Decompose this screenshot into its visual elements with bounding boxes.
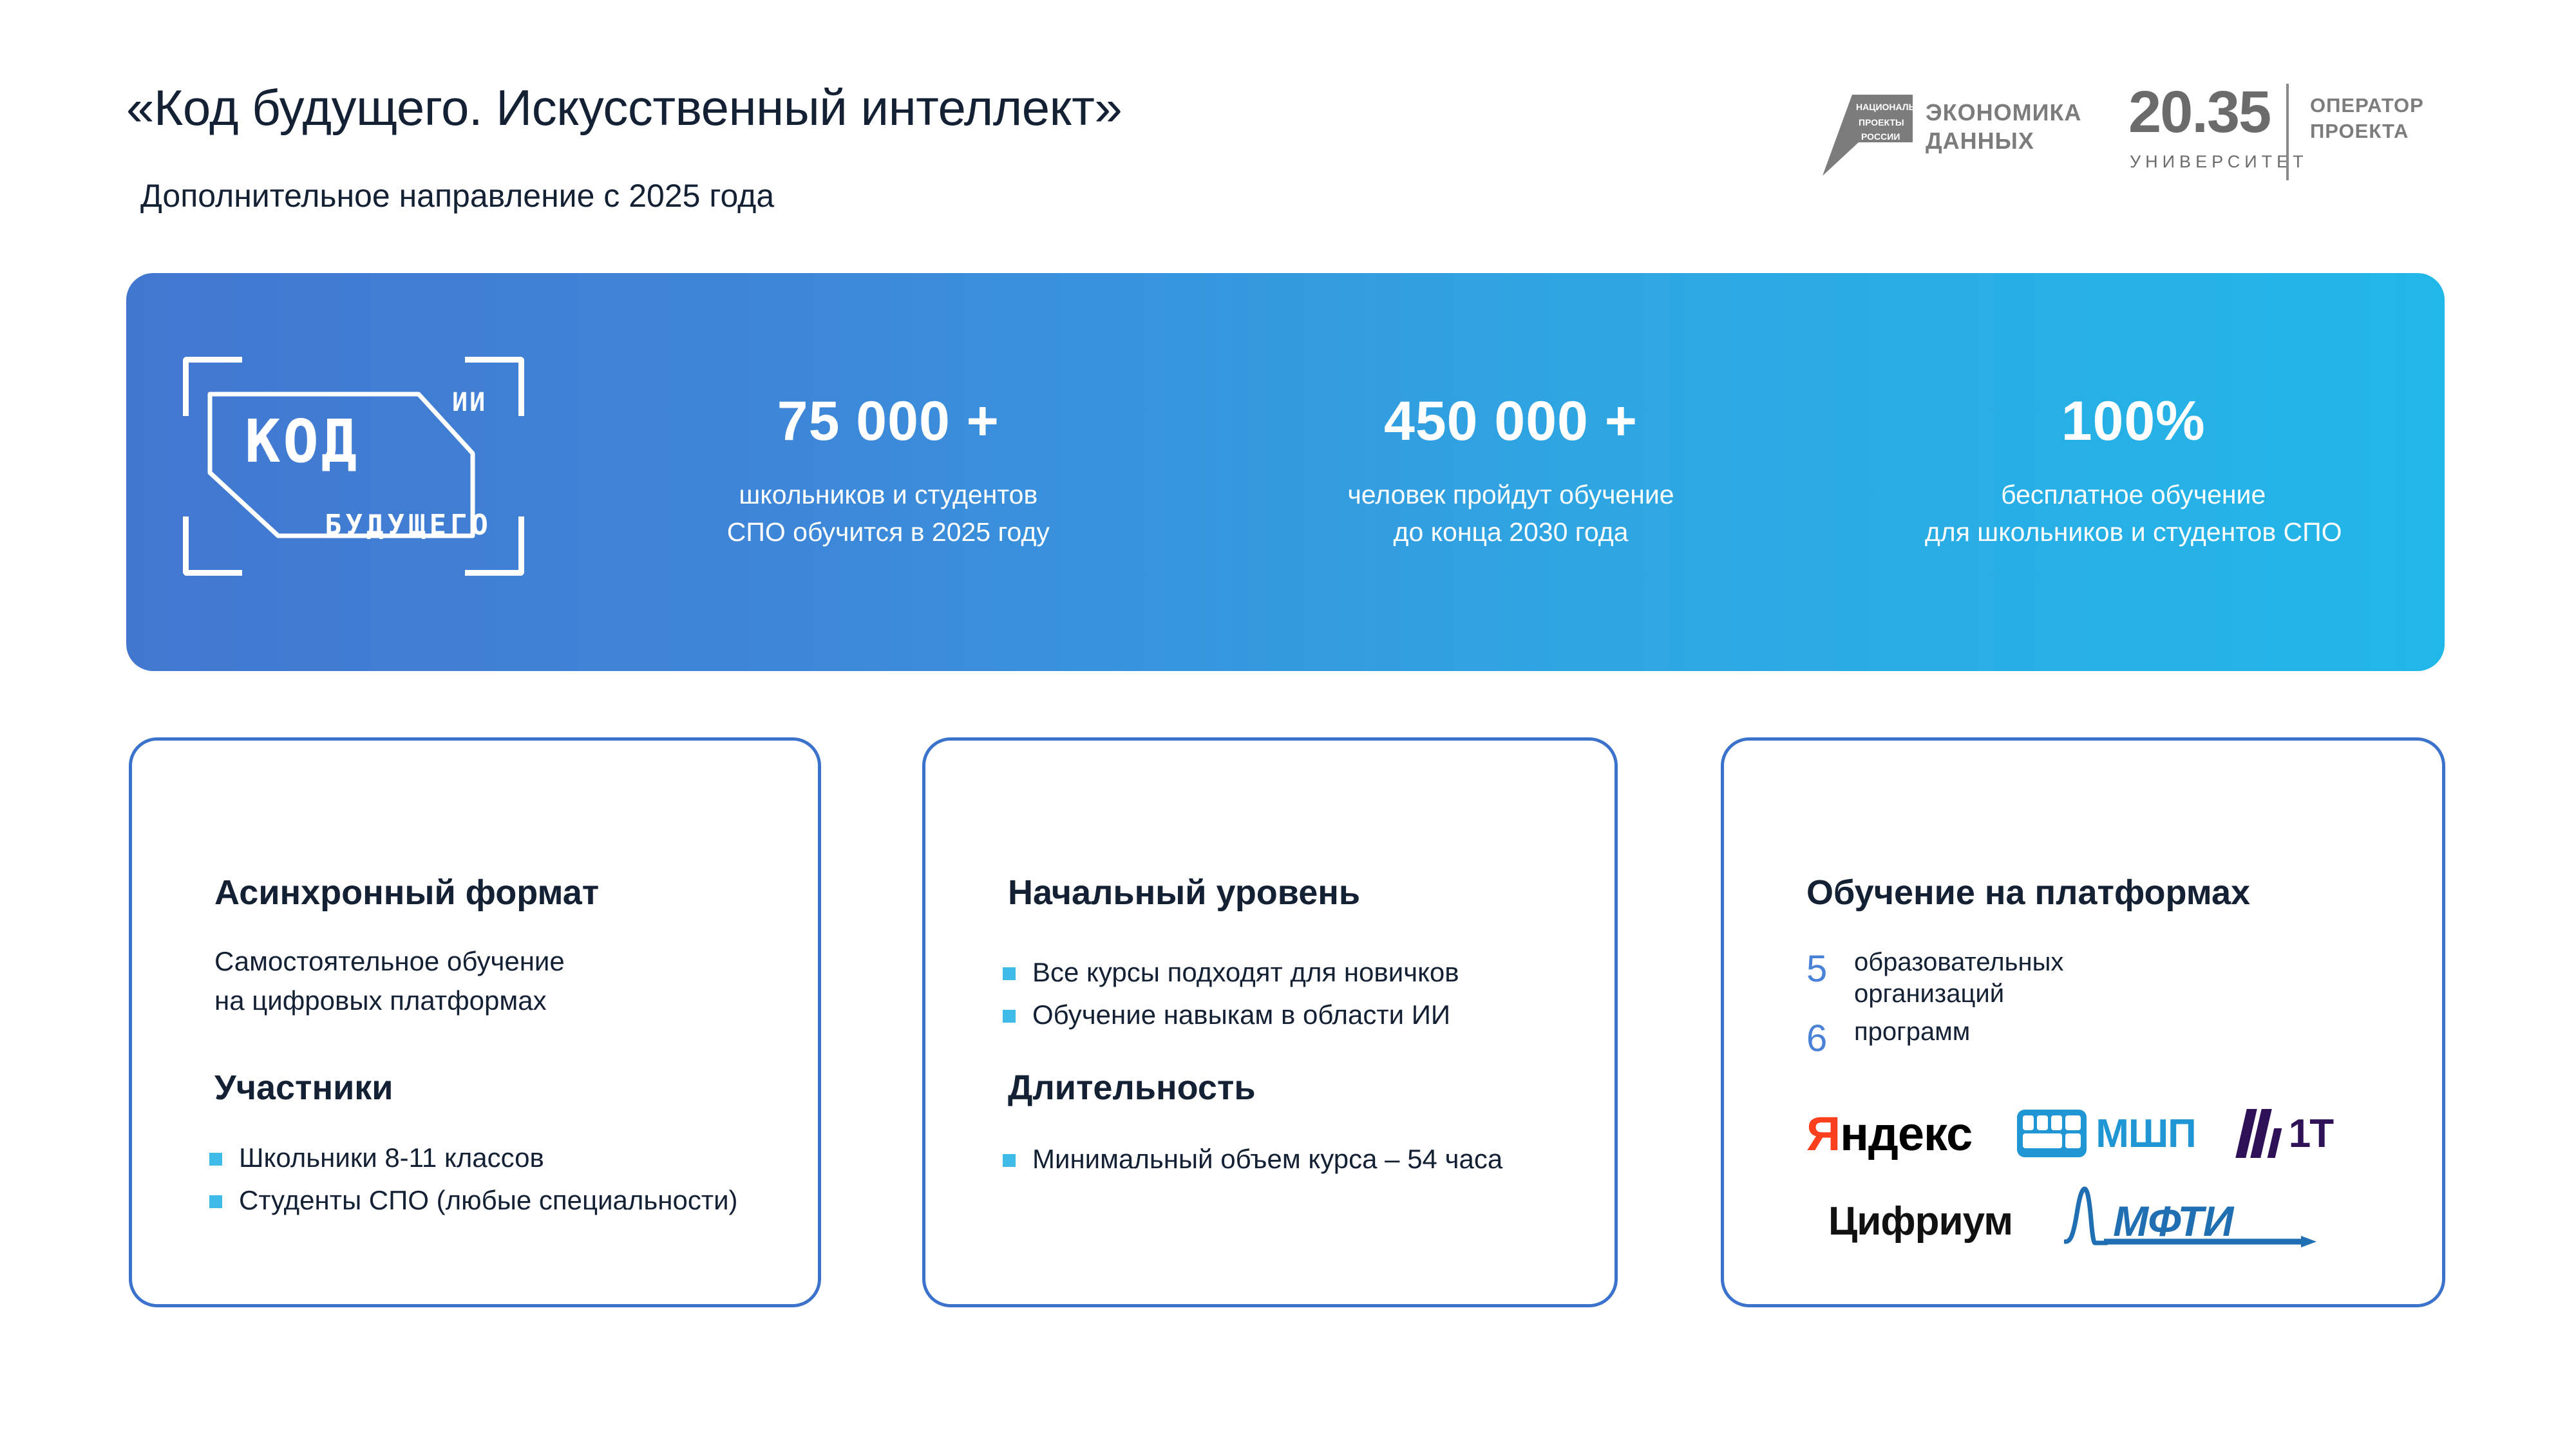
logo-word-budushego: БУДУЩЕГО [325, 509, 492, 542]
slide-header: «Код будущего. Искусственный интеллект» … [0, 0, 2576, 258]
mshp-logo-text: МШП [2096, 1111, 2196, 1157]
national-projects-logo: НАЦИОНАЛЬНЫЕ ПРОЕКТЫ РОССИИ ЭКОНОМИКА ДА… [1823, 87, 2106, 184]
stat-desc-line2: для школьников и студентов СПО [1822, 513, 2445, 551]
card2-heading-duration: Длительность [1008, 1068, 1256, 1108]
mshp-grid-icon [2017, 1110, 2087, 1157]
one-t-bars-icon [2241, 1109, 2278, 1158]
list-item: Школьники 8-11 классов [209, 1139, 776, 1177]
mfti-logo: МФТИ [2064, 1186, 2233, 1256]
one-t-logo-text: 1Т [2289, 1111, 2333, 1157]
list-item-label: Школьники 8-11 классов [239, 1139, 544, 1177]
list-item: Минимальный объем курса – 54 часа [1003, 1140, 1557, 1179]
university-2035-number: 20.35 [2128, 79, 2270, 146]
svg-text:НАЦИОНАЛЬНЫЕ: НАЦИОНАЛЬНЫЕ [1856, 102, 1913, 112]
stat-desc-line2: СПО обучится в 2025 году [577, 513, 1200, 551]
logo-badge-ai: ИИ [452, 388, 487, 417]
card1-heading-participants: Участники [214, 1068, 393, 1108]
list-item: Студенты СПО (любые специальности) [209, 1181, 776, 1220]
operator-line2: ПРОЕКТА [2310, 118, 2424, 144]
list-item: Все курсы подходят для новичков [1003, 953, 1595, 992]
bullet-square-icon [1003, 1154, 1016, 1167]
card3-heading-platforms: Обучение на платформах [1806, 873, 2250, 913]
page-title: «Код будущего. Искусственный интеллект» [126, 79, 1122, 137]
mfti-arrow-icon [2104, 1236, 2316, 1247]
bullet-square-icon [1003, 967, 1016, 980]
one-t-logo: 1Т [2241, 1109, 2333, 1158]
university-2035-logo: 20.35 УНИВЕРСИТЕТ ОПЕРАТОР ПРОЕКТА [2128, 84, 2431, 187]
stats-banner: КОД БУДУЩЕГО ИИ 75 000 + школьников и ст… [126, 273, 2445, 671]
list-item: Обучение навыкам в области ИИ [1003, 996, 1595, 1034]
yandex-logo: Яндекс [1806, 1106, 1972, 1161]
national-projects-label: ЭКОНОМИКА ДАННЫХ [1926, 99, 2081, 155]
mfti-pulse-icon [2064, 1186, 2109, 1256]
slide-root: «Код будущего. Искусственный интеллект» … [0, 0, 2576, 1449]
project-operator-label: ОПЕРАТОР ПРОЕКТА [2310, 93, 2424, 145]
count-row-programs: 6 программ [1806, 1016, 2399, 1062]
count-row-organizations: 5 образовательных организаций [1806, 947, 2399, 1010]
bullet-square-icon [209, 1195, 222, 1208]
card1-paragraph: Самостоятельное обучение на цифровых пла… [214, 942, 781, 1021]
count-number: 5 [1806, 947, 1854, 992]
stat-desc-line1: человек пройдут обучение [1200, 476, 1823, 513]
stat-number: 100% [1822, 393, 2445, 449]
card2-bullet-list-level: Все курсы подходят для новичков Обучение… [1003, 953, 1595, 1037]
svg-text:РОССИИ: РОССИИ [1861, 131, 1900, 142]
yandex-logo-ndex: ндекс [1840, 1106, 1972, 1161]
platform-logos-row-1: Яндекс МШП 1Т [1795, 1092, 2400, 1175]
logo-word-kod: КОД [245, 407, 359, 476]
card2-heading-level: Начальный уровень [1008, 873, 1360, 913]
np-label-line2: ДАННЫХ [1926, 127, 2081, 155]
count-label-line2: организаций [1854, 980, 2004, 1008]
cifrium-logo: Цифриум [1828, 1198, 2012, 1244]
list-item-label: Все курсы подходят для новичков [1032, 953, 1459, 992]
stat-desc-line1: школьников и студентов [577, 476, 1200, 513]
university-2035-subtitle: УНИВЕРСИТЕТ [2130, 152, 2308, 172]
list-item-label: Студенты СПО (любые специальности) [239, 1181, 738, 1220]
card1-para-line2: на цифровых платформах [214, 981, 781, 1021]
stats-row: 75 000 + школьников и студентов СПО обуч… [577, 273, 2445, 671]
card2-bullet-list-duration: Минимальный объем курса – 54 часа [1003, 1140, 1557, 1182]
yandex-logo-ya: Я [1806, 1106, 1840, 1161]
operator-line1: ОПЕРАТОР [2310, 93, 2424, 118]
stat-number: 75 000 + [577, 393, 1200, 449]
svg-text:ПРОЕКТЫ: ПРОЕКТЫ [1859, 117, 1904, 128]
np-label-line1: ЭКОНОМИКА [1926, 99, 2081, 127]
info-cards-row: Асинхронный формат Самостоятельное обуче… [0, 737, 2576, 1317]
card-platforms: Обучение на платформах 5 образовательных… [1721, 737, 2445, 1307]
stat-item: 100% бесплатное обучение для школьников … [1822, 393, 2445, 551]
platform-logos-row-2: Цифриум МФТИ [1795, 1179, 2400, 1263]
stat-item: 75 000 + школьников и студентов СПО обуч… [577, 393, 1200, 551]
count-label: программ [1854, 1016, 1970, 1048]
card-beginner-level: Начальный уровень Все курсы подходят для… [922, 737, 1618, 1307]
count-label-line1: образовательных [1854, 948, 2063, 976]
list-item-label: Минимальный объем курса – 54 часа [1032, 1140, 1502, 1179]
card-async-format: Асинхронный формат Самостоятельное обуче… [129, 737, 821, 1307]
bullet-square-icon [1003, 1010, 1016, 1023]
stat-item: 450 000 + человек пройдут обучение до ко… [1200, 393, 1823, 551]
mshp-logo: МШП [2017, 1110, 2196, 1157]
stat-desc-line1: бесплатное обучение [1822, 476, 2445, 513]
code-of-future-logo: КОД БУДУЩЕГО ИИ [183, 357, 524, 576]
card1-para-line1: Самостоятельное обучение [214, 942, 781, 981]
count-label: образовательных организаций [1854, 947, 2063, 1010]
card1-bullet-list: Школьники 8-11 классов Студенты СПО (люб… [209, 1139, 776, 1223]
stat-number: 450 000 + [1200, 393, 1823, 449]
page-subtitle: Дополнительное направление с 2025 года [140, 177, 774, 214]
bullet-square-icon [209, 1153, 222, 1166]
card1-heading-format: Асинхронный формат [214, 873, 599, 913]
logo-divider [2286, 84, 2289, 180]
platform-logos: Яндекс МШП 1Т [1795, 1092, 2400, 1263]
list-item-label: Обучение навыкам в области ИИ [1032, 996, 1450, 1034]
stat-desc-line2: до конца 2030 года [1200, 513, 1823, 551]
count-number: 6 [1806, 1016, 1854, 1062]
national-projects-mark-icon: НАЦИОНАЛЬНЫЕ ПРОЕКТЫ РОССИИ [1823, 93, 1913, 177]
card3-counts: 5 образовательных организаций 6 программ [1806, 947, 2399, 1068]
